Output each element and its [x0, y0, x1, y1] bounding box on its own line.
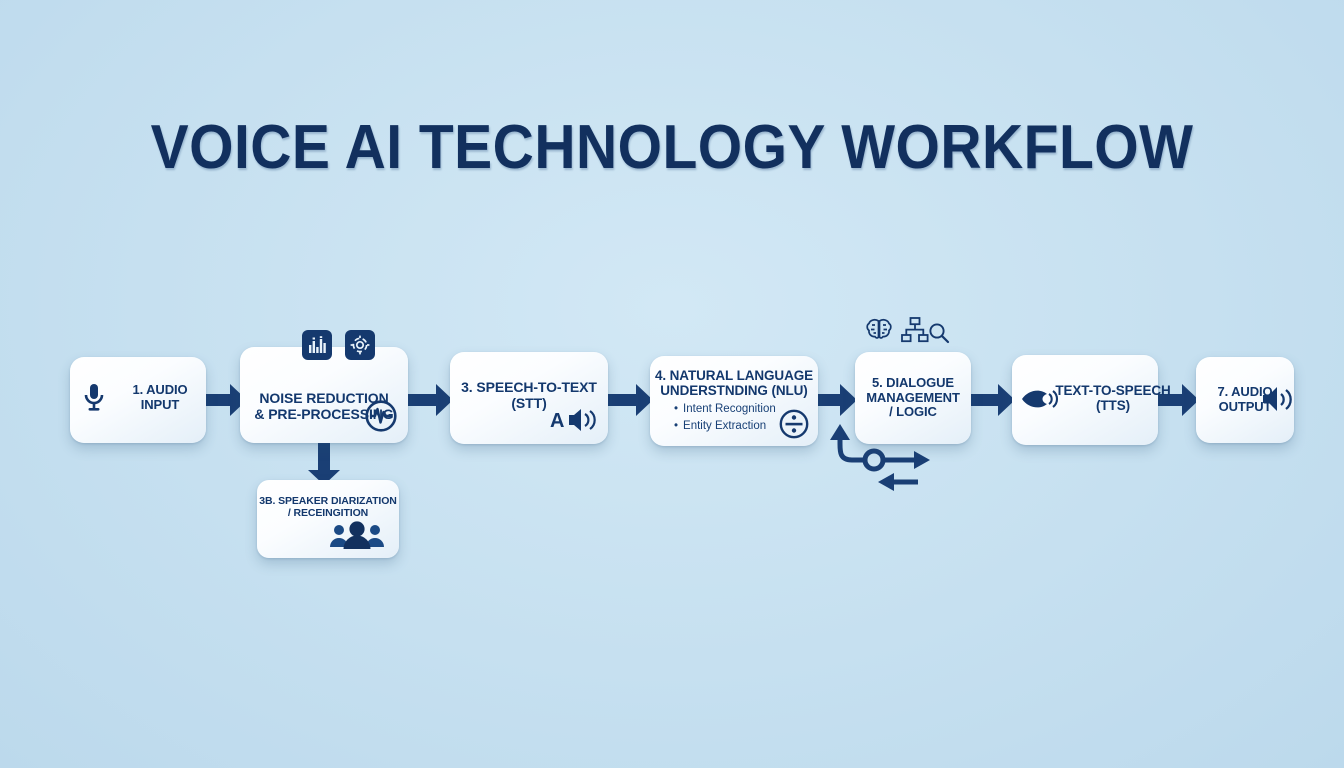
people-group-icon	[329, 520, 385, 550]
list-item: Entity Extraction	[674, 418, 776, 435]
magnifier-icon	[928, 322, 950, 344]
svg-text:A: A	[550, 410, 564, 432]
label-line-2: MANAGEMENT	[866, 390, 960, 405]
node-speaker-diarization-label: 3B. SPEAKER DIARIZATION / RECEINGITION	[257, 496, 399, 520]
label-line-1: 4. NATURAL LANGUAGE	[655, 368, 813, 383]
node-dialogue-management[interactable]: 5. DIALOGUE MANAGEMENT / LOGIC	[855, 352, 971, 444]
node-text-to-speech-label: TEXT-TO-SPEECH (TTS)	[1012, 383, 1186, 413]
speaker-icon	[1262, 385, 1296, 413]
brain-icon	[866, 318, 892, 342]
label-line-1: 3B. SPEAKER DIARIZATION	[259, 495, 397, 507]
arrow-2-to-3	[406, 382, 454, 418]
label-line-1: TEXT-TO-SPEECH	[1055, 383, 1170, 398]
label-line-1: 5. DIALOGUE	[872, 375, 954, 390]
label-line-2: INPUT	[141, 397, 180, 412]
node-nlu-label: 4. NATURAL LANGUAGE UNDERSTNDING (NLU)	[650, 368, 818, 398]
node-noise-reduction[interactable]: NOISE REDUCTION & PRE-PROCESSING	[240, 347, 408, 443]
page-title: VOICE AI TECHNOLOGY WORKFLOW	[54, 112, 1290, 184]
node-audio-input-label: 1. AUDIO INPUT	[70, 383, 228, 412]
node-text-to-speech[interactable]: TEXT-TO-SPEECH (TTS)	[1012, 355, 1158, 445]
label-line-2: (STT)	[511, 395, 546, 411]
arrow-3-to-4	[606, 382, 654, 418]
node-audio-output[interactable]: 7. AUDIO OUTPUT	[1196, 357, 1294, 443]
nlu-bullet-list: Intent Recognition Entity Extraction	[674, 401, 776, 434]
settings-target-icon	[345, 330, 375, 360]
label-line-2: / RECEINGITION	[288, 507, 368, 519]
workflow-diagram: VOICE AI TECHNOLOGY WORKFLOW	[0, 0, 1344, 768]
label-line-1: 3. SPEECH-TO-TEXT	[461, 379, 597, 395]
hierarchy-icon	[901, 317, 929, 343]
arrow-5-to-6	[968, 382, 1016, 418]
node-speech-to-text[interactable]: 3. SPEECH-TO-TEXT (STT) A	[450, 352, 608, 444]
waveform-circle-icon	[364, 399, 398, 433]
label-line-2: (TTS)	[1096, 398, 1130, 413]
node-audio-output-label: 7. AUDIO OUTPUT	[1196, 385, 1316, 414]
node-natural-language-understanding[interactable]: 4. NATURAL LANGUAGE UNDERSTNDING (NLU) I…	[650, 356, 818, 446]
node-dialogue-management-label: 5. DIALOGUE MANAGEMENT / LOGIC	[855, 376, 971, 420]
label-line-2: UNDERSTNDING (NLU)	[660, 383, 807, 398]
node-audio-input[interactable]: 1. AUDIO INPUT	[70, 357, 206, 443]
label-line-1: 1. AUDIO	[132, 382, 187, 397]
letter-a-speaker-icon: A	[550, 407, 604, 433]
division-circle-icon	[778, 408, 810, 440]
arrow-4-to-5	[816, 382, 858, 418]
equalizer-icon	[302, 330, 332, 360]
node-speaker-diarization[interactable]: 3B. SPEAKER DIARIZATION / RECEINGITION	[257, 480, 399, 558]
label-line-3: / LOGIC	[889, 404, 937, 419]
list-item: Intent Recognition	[674, 401, 776, 418]
